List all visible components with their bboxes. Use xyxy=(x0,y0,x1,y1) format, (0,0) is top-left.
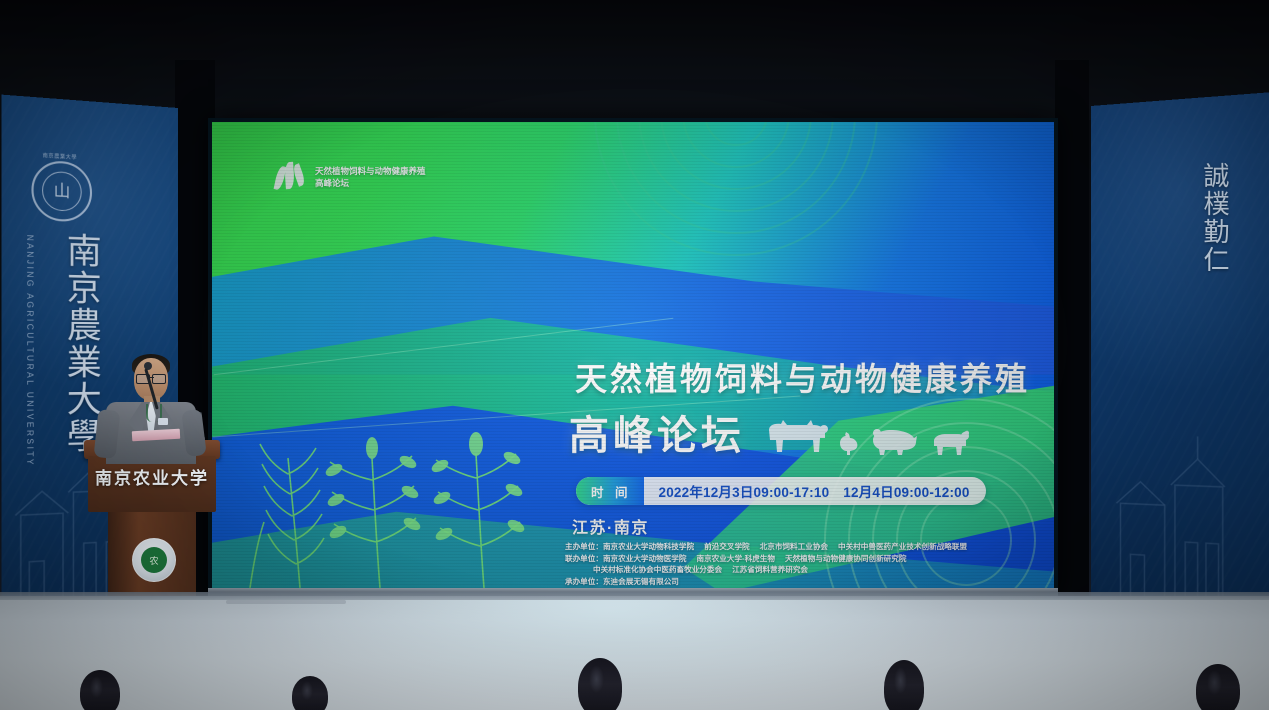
speaker-arm-right xyxy=(181,409,206,457)
organizer-name: 中关村中兽医药产业技术创新战略联盟 xyxy=(838,542,967,551)
goat-icon xyxy=(928,428,970,456)
livestock-icon-group xyxy=(763,416,970,461)
conference-hall-scene: 山 南京農業大學 南京農業大學 NANJING AGRICULTURAL UNI… xyxy=(0,0,1269,710)
organizer-block: 主办单位：南京农业大学动物科技学院前沿交叉学院北京市饲料工业协会中关村中兽医药产… xyxy=(565,541,1054,587)
organizer-role: 联办单位： xyxy=(565,554,603,563)
podium-university-seal: 农 xyxy=(132,538,176,582)
forum-logo-text: 天然植物饲料与动物健康养殖 高峰论坛 xyxy=(315,165,426,190)
leaf-mark-icon xyxy=(274,160,308,194)
banner-right-motto xyxy=(1091,92,1269,626)
forum-title-line1: 天然植物饲料与动物健康养殖 xyxy=(575,354,1030,400)
organizer-name: 前沿交叉学院 xyxy=(704,542,750,551)
forum-logo-line2: 高峰论坛 xyxy=(315,177,426,189)
emblem-glyph: 山 xyxy=(54,183,71,200)
organizer-name: 南京农业大学动物科技学院 xyxy=(603,542,694,551)
chicken-icon xyxy=(838,430,860,456)
cow-icon xyxy=(763,416,829,456)
forum-logo: 天然植物饲料与动物健康养殖 高峰论坛 xyxy=(274,160,426,194)
audience-head xyxy=(80,670,120,710)
glasses-icon xyxy=(136,374,166,382)
audience-head xyxy=(578,658,622,710)
time-banner: 时 间 2022年12月3日09:00-17:10 12月4日09:00-12:… xyxy=(576,477,986,505)
floor-cable xyxy=(226,600,346,604)
audience-head xyxy=(884,660,924,710)
podium-seal-inner: 农 xyxy=(141,547,167,573)
pig-icon xyxy=(869,424,919,456)
organizer-name: 南京农业大学-科虎生物 xyxy=(697,554,775,563)
wall-gap-right xyxy=(1055,60,1089,660)
led-screen: 天然植物饲料与动物健康养殖 高峰论坛 天然植物饲料与动物健康养殖 高峰论坛 xyxy=(212,122,1054,588)
forum-location: 江苏·南京 xyxy=(572,514,649,538)
organizer-row: 联办单位：南京农业大学动物医学院南京农业大学-科虎生物天然植物与动物健康协同创新… xyxy=(565,553,1054,565)
time-value: 2022年12月3日09:00-17:10 12月4日09:00-12:00 xyxy=(644,477,985,505)
njau-emblem-inner: 山 xyxy=(42,171,82,212)
banner-right-motto-text: 誠樸勤仁 xyxy=(1190,162,1234,274)
forum-title-row: 高峰论坛 xyxy=(569,403,970,461)
campus-building-illustration-right xyxy=(1101,362,1266,625)
banner-left-university-name-en: NANJING AGRICULTURAL UNIVERSITY xyxy=(25,235,35,468)
speaker-badge xyxy=(158,418,168,425)
time-day1: 2022年12月3日09:00-17:10 xyxy=(658,481,829,501)
podium-seal-glyph: 农 xyxy=(149,554,158,567)
organizer-name: 中关村标准化协会中医药畜牧业分委会 xyxy=(593,565,722,574)
organizer-row: 中关村标准化协会中医药畜牧业分委会江苏省饲料营养研究会 xyxy=(565,564,1054,576)
organizer-name: 南京农业大学动物医学院 xyxy=(603,554,687,563)
forum-title-line2: 高峰论坛 xyxy=(569,403,745,461)
stage-floor-edge xyxy=(0,592,1269,600)
organizer-name: 江苏省饲料营养研究会 xyxy=(732,565,808,574)
organizer-role: 承办单位： xyxy=(565,577,603,586)
organizer-role: 主办单位： xyxy=(565,542,603,551)
time-label: 时 间 xyxy=(576,477,644,505)
audience-head xyxy=(1196,664,1240,710)
organizer-name: 东迪会展无锡有限公司 xyxy=(603,577,679,586)
organizer-row: 主办单位：南京农业大学动物科技学院前沿交叉学院北京市饲料工业协会中关村中兽医药产… xyxy=(565,541,1054,553)
organizer-row: 承办单位：东迪会展无锡有限公司 xyxy=(565,576,1054,588)
audience-head xyxy=(292,676,328,710)
podium-front-text: 南京农业大学 xyxy=(92,464,212,489)
time-day2: 12月4日09:00-12:00 xyxy=(843,481,969,501)
organizer-name: 北京市饲料工业协会 xyxy=(760,542,828,551)
forum-logo-line1: 天然植物饲料与动物健康养殖 xyxy=(315,165,426,177)
organizer-name: 天然植物与动物健康协同创新研究院 xyxy=(785,554,907,563)
